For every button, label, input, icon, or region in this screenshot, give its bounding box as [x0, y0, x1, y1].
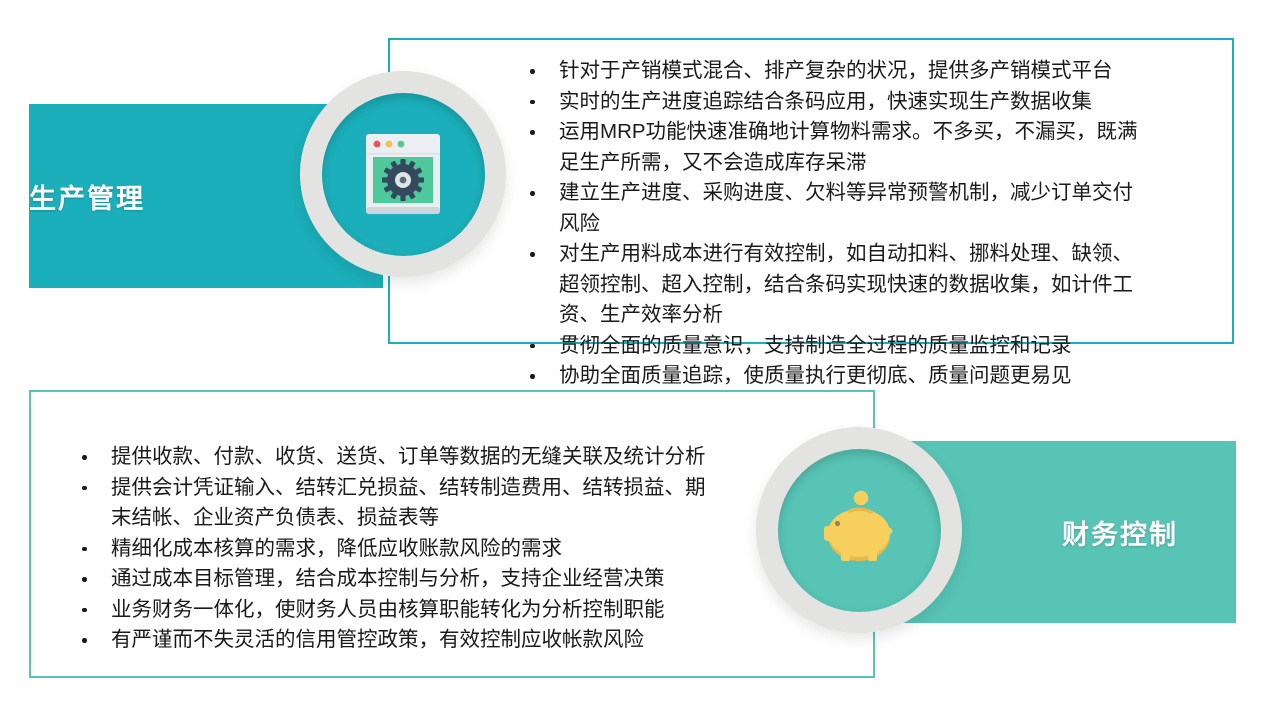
- finance-bullet-list: 提供收款、付款、收货、送货、订单等数据的无缝关联及统计分析 提供会计凭证输入、结…: [76, 442, 716, 656]
- bullet-text: 通过成本目标管理，结合成本控制与分析，支持企业经营决策: [111, 567, 665, 590]
- production-circle-inner: [322, 93, 485, 256]
- list-item: 协助全面质量追踪，使质量执行更彻底、质量问题更易见: [524, 361, 1150, 392]
- list-item: 对生产用料成本进行有效控制，如自动扣料、挪料处理、缺领、超领控制、超入控制，结合…: [524, 239, 1150, 331]
- list-item: 精细化成本核算的需求，降低应收账款风险的需求: [76, 534, 716, 565]
- list-item: 业务财务一体化，使财务人员由核算职能转化为分析控制职能: [76, 595, 716, 626]
- list-item: 建立生产进度、采购进度、欠料等异常预警机制，减少订单交付风险: [524, 178, 1150, 239]
- bullet-text: 精细化成本核算的需求，降低应收账款风险的需求: [111, 537, 562, 560]
- bullet-text: 运用MRP功能快速准确地计算物料需求。不多买，不漏买，既满足生产所需，又不会造成…: [559, 120, 1138, 174]
- finance-circle-badge: [756, 427, 962, 633]
- production-circle-badge: [300, 71, 506, 277]
- finance-title: 财务控制: [1062, 513, 1178, 552]
- bullet-text: 有严谨而不失灵活的信用管控政策，有效控制应收帐款风险: [111, 628, 644, 651]
- production-bullet-list: 针对于产销模式混合、排产复杂的状况，提供多产销模式平台 实时的生产进度追踪结合条…: [524, 56, 1150, 392]
- bullet-text: 对生产用料成本进行有效控制，如自动扣料、挪料处理、缺领、超领控制、超入控制，结合…: [559, 242, 1133, 326]
- piggy-bank-icon: [816, 490, 902, 570]
- bullet-text: 提供会计凭证输入、结转汇兑损益、结转制造费用、结转损益、期末结帐、企业资产负债表…: [111, 476, 706, 530]
- list-item: 运用MRP功能快速准确地计算物料需求。不多买，不漏买，既满足生产所需，又不会造成…: [524, 117, 1150, 178]
- list-item: 提供收款、付款、收货、送货、订单等数据的无缝关联及统计分析: [76, 442, 716, 473]
- bullet-text: 贯彻全面的质量意识，支持制造全过程的质量监控和记录: [559, 334, 1072, 357]
- bullet-text: 协助全面质量追踪，使质量执行更彻底、质量问题更易见: [559, 364, 1072, 387]
- finance-circle-inner: [778, 449, 941, 612]
- browser-window-gear-icon: [365, 133, 441, 215]
- slide-canvas: 生产管理: [0, 0, 1264, 710]
- bullet-text: 实时的生产进度追踪结合条码应用，快速实现生产数据收集: [559, 90, 1092, 113]
- list-item: 贯彻全面的质量意识，支持制造全过程的质量监控和记录: [524, 331, 1150, 362]
- bullet-text: 提供收款、付款、收货、送货、订单等数据的无缝关联及统计分析: [111, 445, 706, 468]
- bullet-text: 业务财务一体化，使财务人员由核算职能转化为分析控制职能: [111, 598, 665, 621]
- list-item: 实时的生产进度追踪结合条码应用，快速实现生产数据收集: [524, 87, 1150, 118]
- bullet-text: 建立生产进度、采购进度、欠料等异常预警机制，减少订单交付风险: [559, 181, 1133, 235]
- list-item: 提供会计凭证输入、结转汇兑损益、结转制造费用、结转损益、期末结帐、企业资产负债表…: [76, 473, 716, 534]
- production-title: 生产管理: [29, 177, 145, 216]
- list-item: 针对于产销模式混合、排产复杂的状况，提供多产销模式平台: [524, 56, 1150, 87]
- list-item: 有严谨而不失灵活的信用管控政策，有效控制应收帐款风险: [76, 625, 716, 656]
- bullet-text: 针对于产销模式混合、排产复杂的状况，提供多产销模式平台: [559, 59, 1113, 82]
- list-item: 通过成本目标管理，结合成本控制与分析，支持企业经营决策: [76, 564, 716, 595]
